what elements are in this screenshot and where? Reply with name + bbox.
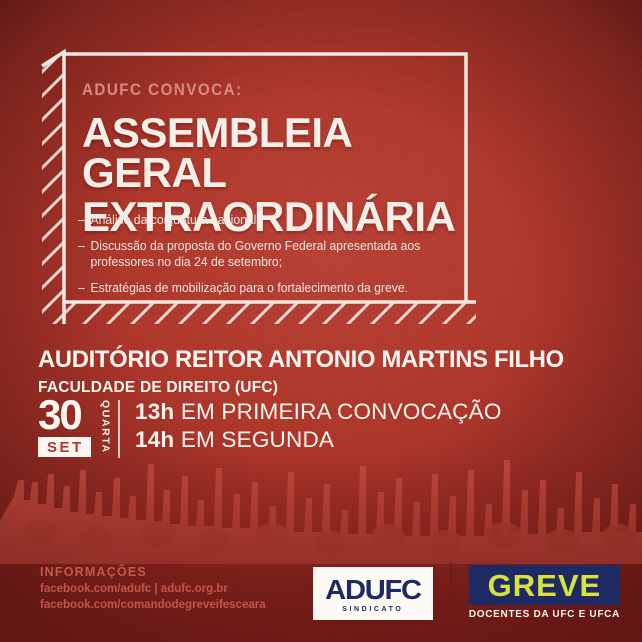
agenda-item: – Estratégias de mobilização para o fort… — [78, 280, 443, 297]
agenda-list: – Análise da conjuntura nacional; – Disc… — [78, 212, 458, 305]
agenda-item: – Análise da conjuntura nacional; — [78, 212, 443, 229]
time-row: 13h EM PRIMEIRA CONVOCAÇÃO — [135, 398, 502, 426]
adufc-logo-mark: ADUFC — [325, 576, 421, 604]
agenda-text: Análise da conjuntura nacional; — [90, 213, 259, 227]
date-month: SET — [38, 437, 91, 457]
agenda-item: – Discussão da proposta do Governo Feder… — [78, 238, 443, 271]
agenda-text: Estratégias de mobilização para o fortal… — [90, 281, 408, 295]
time-label: EM SEGUNDA — [181, 427, 334, 452]
info-line-facebook-comando: facebook.com/comandodegreveifesceara — [40, 598, 320, 614]
info-line-facebook-adufc: facebook.com/adufc | adufc.org.br — [40, 582, 320, 598]
agenda-dash: – — [78, 238, 85, 255]
logo-separator — [450, 563, 452, 615]
greve-logo: GREVE DOCENTES DA UFC E UFCA — [469, 565, 620, 620]
kicker-text: ADUFC CONVOCA: — [82, 82, 450, 99]
venue-block: AUDITÓRIO REITOR ANTONIO MARTINS FILHO F… — [38, 348, 598, 396]
schedule-divider — [118, 400, 120, 458]
info-title: INFORMAÇÕES — [40, 565, 320, 579]
date-day: 30 — [38, 398, 100, 432]
time-label: EM PRIMEIRA CONVOCAÇÃO — [181, 399, 502, 424]
venue-faculty: FACULDADE DE DIREITO (UFC) — [38, 380, 581, 396]
date-weekday: QUARTA — [100, 400, 111, 454]
agenda-dash: – — [78, 280, 85, 297]
greve-logo-mark: GREVE — [482, 570, 607, 601]
adufc-logo-sub: SINDICATO — [327, 606, 419, 613]
time-hour: 13h — [135, 399, 174, 424]
adufc-logo: ADUFC SINDICATO — [313, 567, 433, 620]
times-list: 13h EM PRIMEIRA CONVOCAÇÃO 14h EM SEGUND… — [135, 398, 502, 454]
agenda-text: Discussão da proposta do Governo Federal… — [90, 239, 420, 270]
greve-logo-plate: GREVE — [469, 565, 620, 605]
logo-bar: ADUFC SINDICATO GREVE DOCENTES DA UFC E … — [313, 563, 620, 620]
time-hour: 14h — [135, 427, 174, 452]
time-row: 14h EM SEGUNDA — [135, 426, 502, 454]
schedule-block: 30 SET QUARTA 13h EM PRIMEIRA CONVOCAÇÃO… — [38, 398, 502, 458]
venue-name: AUDITÓRIO REITOR ANTONIO MARTINS FILHO — [38, 348, 581, 373]
poster-canvas: ADUFC CONVOCA: ASSEMBLEIA GERAL EXTRAORD… — [0, 0, 642, 642]
agenda-dash: – — [78, 212, 85, 229]
date-box: 30 SET QUARTA — [38, 398, 100, 457]
title-line-1: ASSEMBLEIA GERAL — [82, 113, 482, 194]
greve-logo-sub: DOCENTES DA UFC E UFCA — [469, 609, 620, 620]
info-block: INFORMAÇÕES facebook.com/adufc | adufc.o… — [40, 565, 320, 614]
